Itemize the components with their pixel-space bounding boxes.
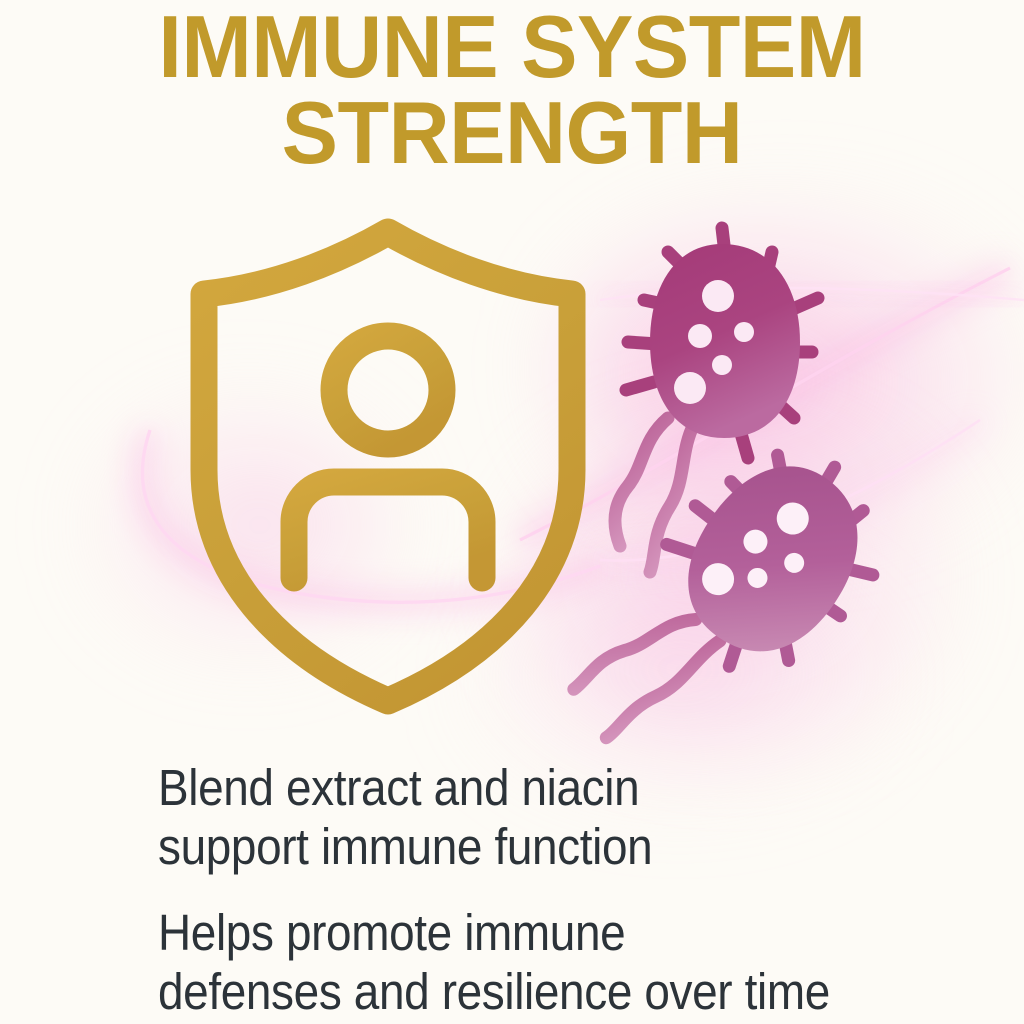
germ2-flagellum-right (606, 618, 720, 760)
claims-block: Blend extract and niacin support immune … (158, 758, 958, 1022)
germ1-body (650, 244, 800, 438)
claim-text-2: Helps promote immune defenses and resili… (158, 903, 878, 1021)
page-title: IMMUNE SYSTEM STRENGTH (20, 4, 1003, 176)
bacteria-germ-small (558, 413, 911, 810)
germ1-pilus-8 (626, 382, 654, 390)
germ2-pilus-8 (667, 538, 695, 560)
immune-system-strength-poster: IMMUNE SYSTEM STRENGTH Blend extract and… (0, 0, 1024, 1024)
germ2-body (658, 437, 890, 680)
claim-text-1: Blend extract and niacin support immune … (158, 758, 878, 876)
